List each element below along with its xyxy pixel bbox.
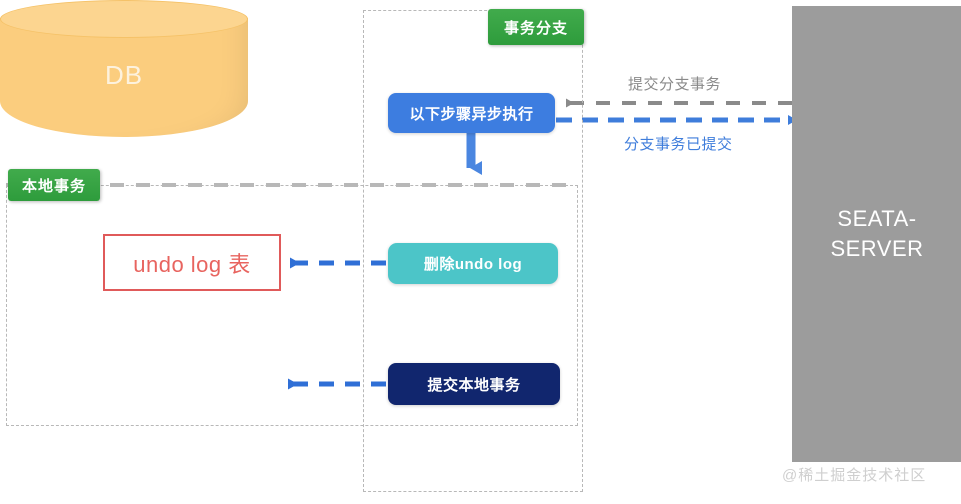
- node-commit-local-transaction: 提交本地事务: [388, 363, 560, 405]
- node-async-steps: 以下步骤异步执行: [388, 93, 555, 133]
- edge-label-branch-transaction-committed: 分支事务已提交: [624, 133, 733, 154]
- seata-server-line-1: SEATA-: [837, 204, 916, 234]
- database-label: DB: [0, 60, 248, 91]
- node-undo-log-table: undo log 表: [103, 234, 281, 291]
- node-seata-server: SEATA- SERVER: [792, 6, 961, 462]
- watermark: @稀土掘金技术社区: [782, 464, 926, 485]
- diagram-canvas: 本地事务 事务分支 以下步骤异步执行 删除undo log 提交本地事务 und…: [0, 0, 961, 504]
- database-cylinder-top: [0, 0, 248, 38]
- edge-label-commit-branch-transaction: 提交分支事务: [628, 73, 721, 94]
- seata-server-line-2: SERVER: [830, 234, 923, 264]
- node-delete-undo-log: 删除undo log: [388, 243, 558, 284]
- label-local-transaction: 本地事务: [8, 169, 100, 201]
- label-branch-transaction: 事务分支: [488, 9, 584, 45]
